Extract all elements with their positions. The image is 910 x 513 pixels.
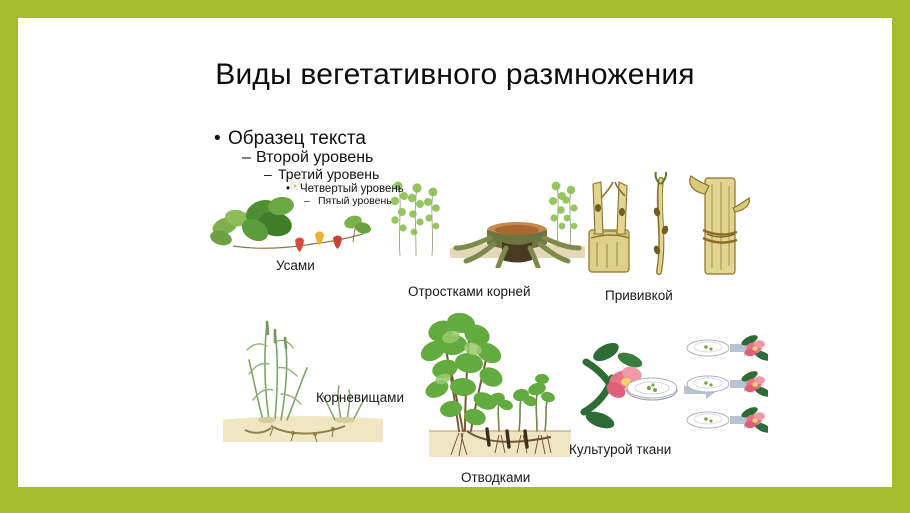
grass-rhizome-illustration: [223, 316, 383, 444]
graft-branch-illustration: [581, 168, 756, 278]
bullet-level-3: –: [264, 167, 278, 183]
bullet-level-5: –: [304, 196, 318, 208]
placeholder-level-3: –Третий уровень: [264, 167, 538, 183]
bullet-level-4: •: [286, 183, 300, 196]
caption-root-shoots: Отростками корней: [408, 284, 531, 299]
placeholder-level-1: •Образец текста: [214, 128, 538, 149]
bullet-level-1: •: [214, 128, 228, 149]
caption-rhizomes: Корневищами: [316, 390, 404, 405]
placeholder-level-4-text: Четвертый уровень: [300, 183, 404, 195]
caption-layering: Отводками: [461, 470, 530, 485]
placeholder-level-1-text: Образец текста: [228, 128, 366, 149]
caption-tissue-culture: Культурой ткани: [569, 442, 671, 457]
caption-grafting: Прививкой: [605, 288, 673, 303]
placeholder-level-3-text: Третий уровень: [278, 166, 379, 182]
slide-canvas: Виды вегетативного размножения •Образец …: [18, 18, 892, 487]
placeholder-level-2: –Второй уровень: [242, 149, 538, 167]
tissue-culture-orchid-illustration: [578, 334, 768, 436]
caption-runners: Усами: [276, 258, 315, 273]
currant-layering-illustration: [411, 311, 576, 463]
placeholder-level-5: –Пятый уровень: [304, 196, 538, 208]
placeholder-level-2-text: Второй уровень: [256, 149, 373, 166]
content-placeholder[interactable]: •Образец текста –Второй уровень –Третий …: [208, 128, 538, 207]
bullet-level-2: –: [242, 149, 256, 167]
page-title: Виды вегетативного размножения: [18, 58, 892, 92]
placeholder-level-5-text: Пятый уровень: [318, 195, 392, 207]
